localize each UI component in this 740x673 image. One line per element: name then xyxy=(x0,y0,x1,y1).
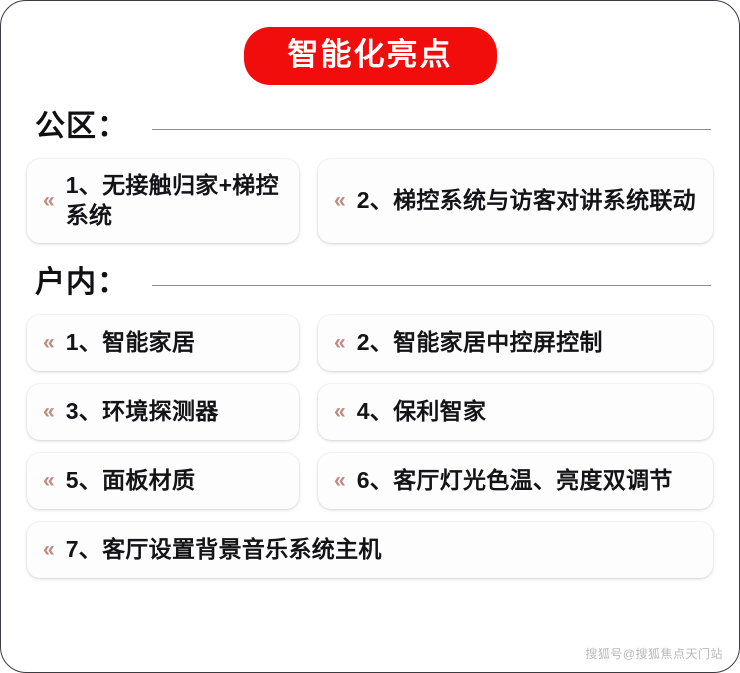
card-grid-indoor: « 1、智能家居 « 2、智能家居中控屏控制 « 3、环境探测器 « 4、保利智… xyxy=(27,315,713,578)
card-item[interactable]: « 2、梯控系统与访客对讲系统联动 xyxy=(318,159,713,243)
section-header-public-area: 公区： xyxy=(35,109,711,145)
card-label: 5、面板材质 xyxy=(66,466,196,496)
card-item[interactable]: « 1、智能家居 xyxy=(27,315,299,371)
chevron-left-double-icon: « xyxy=(43,190,55,211)
card-label: 7、客厅设置背景音乐系统主机 xyxy=(66,535,382,565)
card-item[interactable]: « 1、无接触归家+梯控系统 xyxy=(27,159,299,243)
section-header-indoor: 户内： xyxy=(35,265,711,301)
section-title-public-area: 公区： xyxy=(35,109,128,145)
card-item[interactable]: « 7、客厅设置背景音乐系统主机 xyxy=(27,522,713,578)
card-grid-public-area: « 1、无接触归家+梯控系统 « 2、梯控系统与访客对讲系统联动 xyxy=(27,159,713,243)
section-divider-indoor xyxy=(152,285,711,286)
card-row: « 5、面板材质 « 6、客厅灯光色温、亮度双调节 xyxy=(27,453,713,509)
chevron-left-double-icon: « xyxy=(334,332,346,353)
card-row: « 7、客厅设置背景音乐系统主机 xyxy=(27,522,713,578)
card-label: 6、客厅灯光色温、亮度双调节 xyxy=(357,466,673,496)
chevron-left-double-icon: « xyxy=(43,401,55,422)
card-row: « 1、无接触归家+梯控系统 « 2、梯控系统与访客对讲系统联动 xyxy=(27,159,713,243)
chevron-left-double-icon: « xyxy=(43,470,55,491)
chevron-left-double-icon: « xyxy=(43,539,55,560)
card-item[interactable]: « 4、保利智家 xyxy=(318,384,713,440)
chevron-left-double-icon: « xyxy=(334,401,346,422)
chevron-left-double-icon: « xyxy=(334,190,346,211)
page-title-badge: 智能化亮点 xyxy=(244,27,497,85)
card-item[interactable]: « 3、环境探测器 xyxy=(27,384,299,440)
card-label: 3、环境探测器 xyxy=(66,397,219,427)
card-row: « 1、智能家居 « 2、智能家居中控屏控制 xyxy=(27,315,713,371)
page-root: 智能化亮点 公区： « 1、无接触归家+梯控系统 « 2、梯控系统与访客对讲系统… xyxy=(0,0,740,673)
card-item[interactable]: « 5、面板材质 xyxy=(27,453,299,509)
chevron-left-double-icon: « xyxy=(334,470,346,491)
title-badge-container: 智能化亮点 xyxy=(1,1,739,85)
card-label: 2、智能家居中控屏控制 xyxy=(357,328,603,358)
section-title-indoor: 户内： xyxy=(35,265,128,301)
card-item[interactable]: « 2、智能家居中控屏控制 xyxy=(318,315,713,371)
card-label: 1、无接触归家+梯控系统 xyxy=(66,171,285,231)
card-label: 4、保利智家 xyxy=(357,397,487,427)
card-label: 2、梯控系统与访客对讲系统联动 xyxy=(357,186,696,216)
watermark-text: 搜狐号@搜狐焦点天门站 xyxy=(585,645,723,662)
card-label: 1、智能家居 xyxy=(66,328,196,358)
card-row: « 3、环境探测器 « 4、保利智家 xyxy=(27,384,713,440)
card-item[interactable]: « 6、客厅灯光色温、亮度双调节 xyxy=(318,453,713,509)
section-divider-public-area xyxy=(152,129,711,130)
chevron-left-double-icon: « xyxy=(43,332,55,353)
